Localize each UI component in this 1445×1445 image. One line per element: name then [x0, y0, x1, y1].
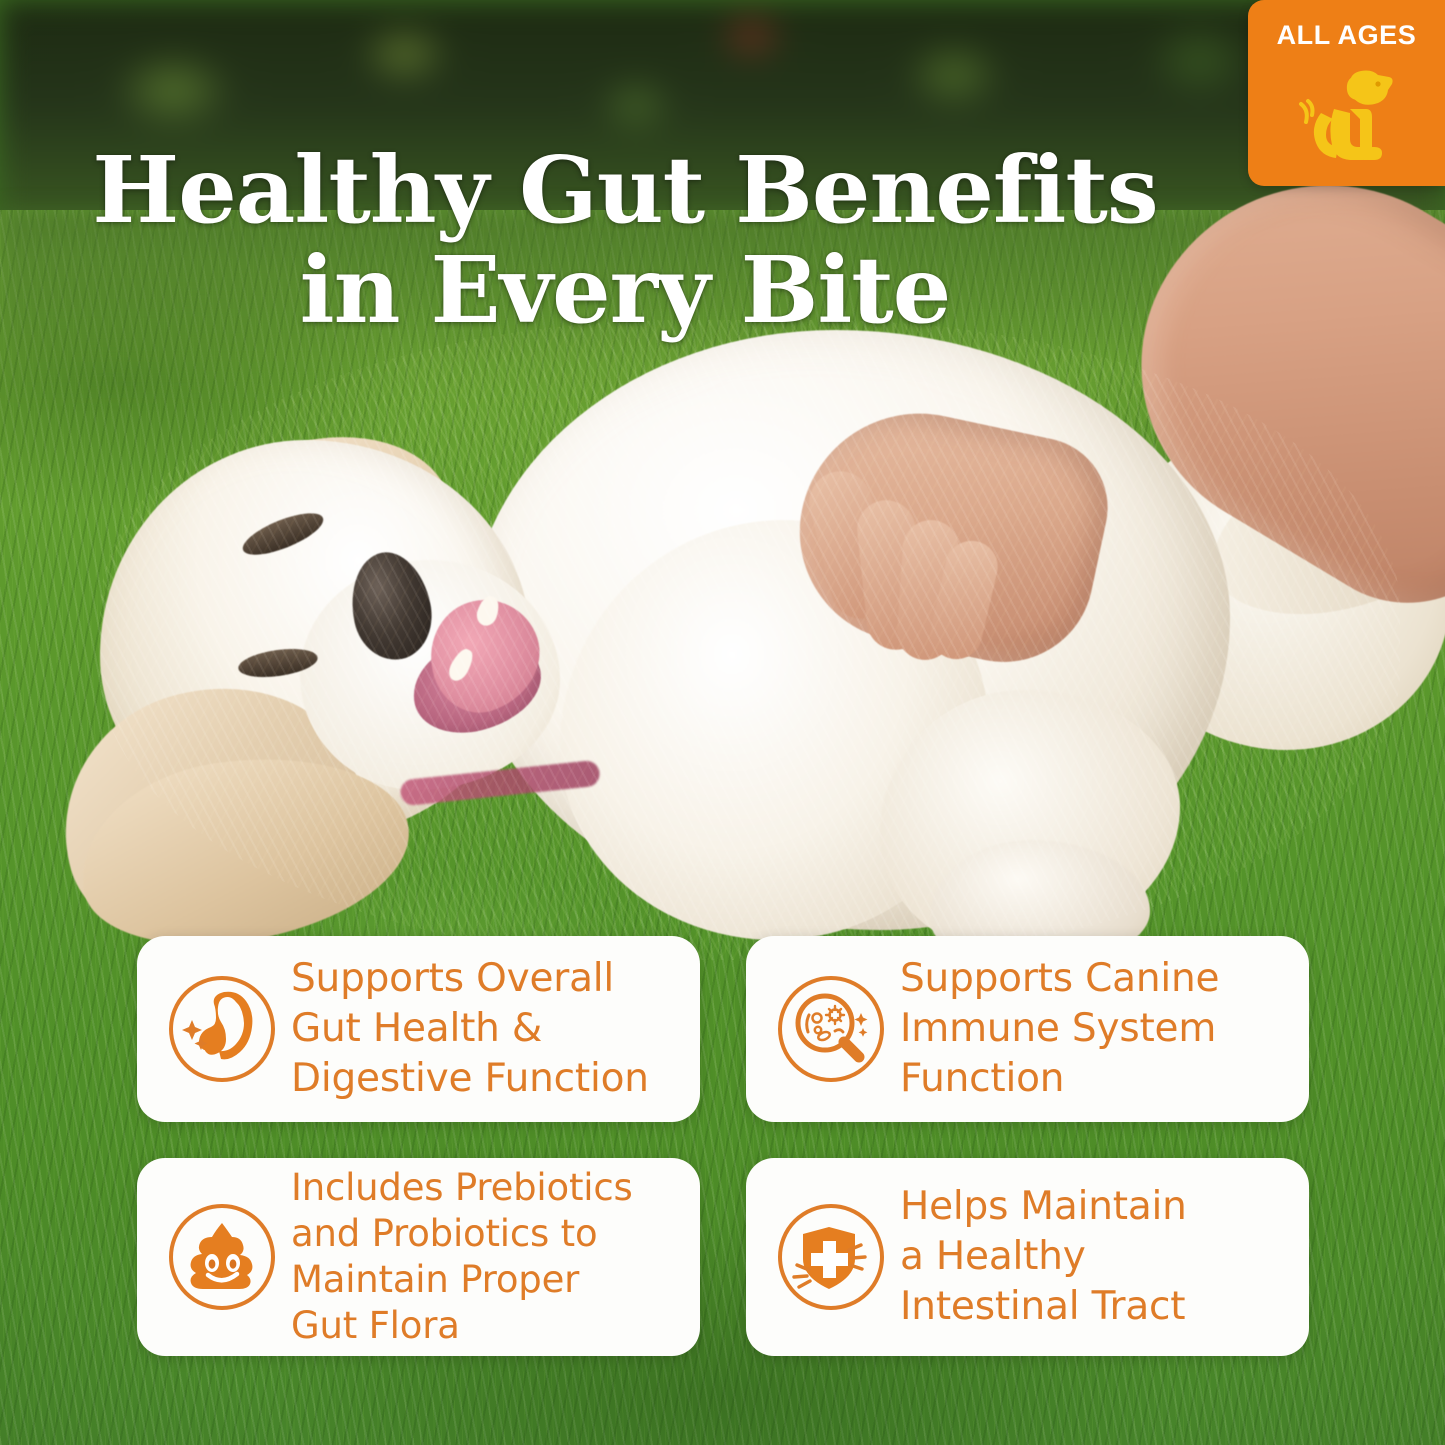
benefit-line: Supports Overall — [291, 954, 649, 1004]
benefit-text: Supports Canine Immune System Function — [900, 954, 1219, 1104]
benefit-line: Supports Canine — [900, 954, 1219, 1004]
poop-emoji-icon — [163, 1198, 281, 1316]
benefit-text: Supports Overall Gut Health & Digestive … — [291, 954, 649, 1104]
benefit-line: Immune System — [900, 1004, 1219, 1054]
benefit-line: and Probiotics to — [291, 1211, 633, 1257]
benefit-line: Maintain Proper — [291, 1257, 633, 1303]
benefits-grid: Supports Overall Gut Health & Digestive … — [137, 936, 1309, 1356]
benefit-line: Intestinal Tract — [900, 1282, 1187, 1332]
benefit-card-intestinal-tract[interactable]: Helps Maintain a Healthy Intestinal Trac… — [746, 1158, 1309, 1356]
benefit-card-gut-health[interactable]: Supports Overall Gut Health & Digestive … — [137, 936, 700, 1122]
benefit-line: Helps Maintain — [900, 1182, 1187, 1232]
shield-plus-icon — [772, 1198, 890, 1316]
all-ages-label: ALL AGES — [1277, 22, 1417, 49]
benefit-text: Helps Maintain a Healthy Intestinal Trac… — [900, 1182, 1187, 1332]
headline-line-2: in Every Bite — [0, 240, 1250, 340]
benefit-card-immune-system[interactable]: Supports Canine Immune System Function — [746, 936, 1309, 1122]
benefit-card-prebiotics-probiotics[interactable]: Includes Prebiotics and Probiotics to Ma… — [137, 1158, 700, 1356]
benefit-line: Function — [900, 1054, 1219, 1104]
sitting-dog-icon — [1288, 57, 1406, 180]
benefit-text: Includes Prebiotics and Probiotics to Ma… — [291, 1165, 633, 1349]
benefit-line: Gut Health & — [291, 1004, 649, 1054]
benefit-line: Includes Prebiotics — [291, 1165, 633, 1211]
benefit-line: a Healthy — [900, 1232, 1187, 1282]
headline-line-1: Healthy Gut Benefits — [92, 136, 1157, 244]
all-ages-badge: ALL AGES — [1248, 0, 1445, 186]
stomach-icon — [163, 970, 281, 1088]
infographic-root: Healthy Gut Benefits in Every Bite ALL A… — [0, 0, 1445, 1445]
benefit-line: Gut Flora — [291, 1303, 633, 1349]
page-title: Healthy Gut Benefits in Every Bite — [0, 140, 1250, 340]
magnifier-germs-icon — [772, 970, 890, 1088]
benefit-line: Digestive Function — [291, 1054, 649, 1104]
